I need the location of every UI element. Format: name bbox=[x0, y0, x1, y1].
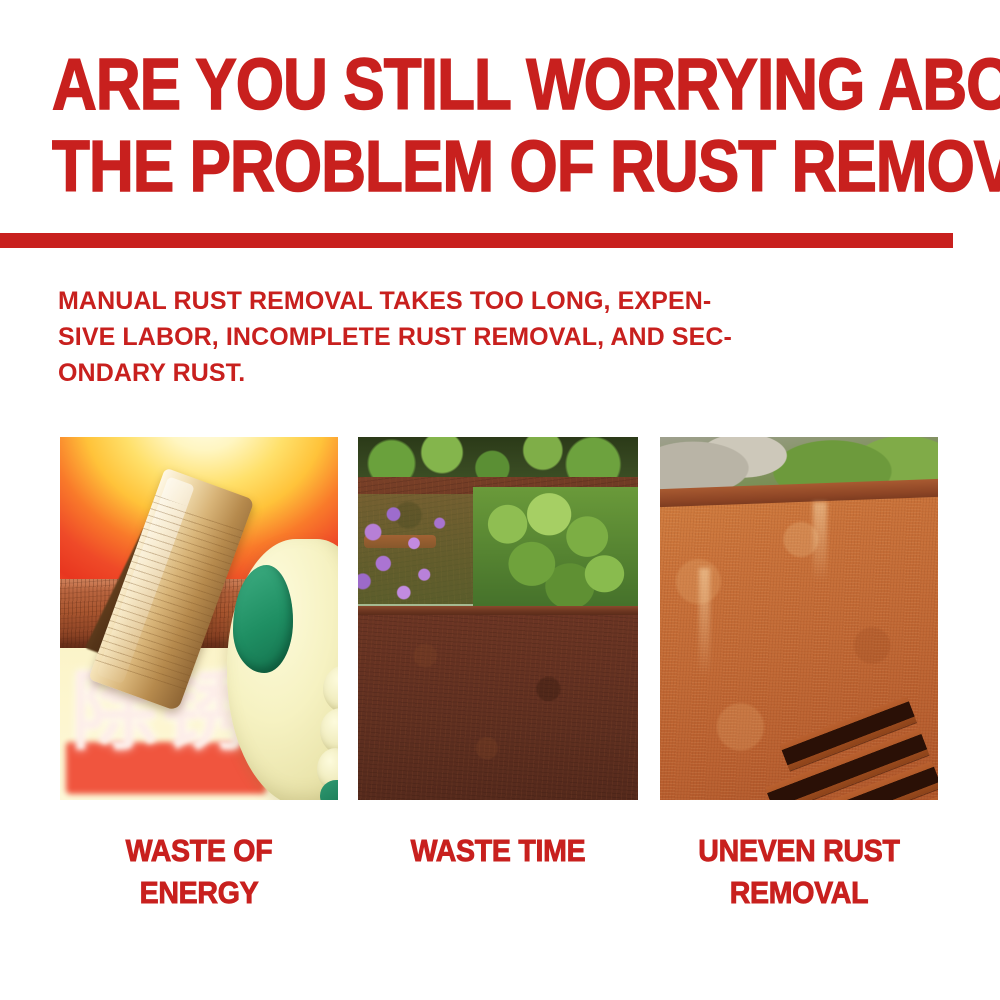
photo-rusted-wall-and-stairs bbox=[660, 437, 938, 800]
planted-flowers bbox=[358, 484, 638, 611]
caption-uneven-rust-removal: UNEVEN RUST REMOVAL bbox=[660, 830, 938, 914]
headline: ARE YOU STILL WORRYING ABOUT THE PROBLEM… bbox=[52, 48, 833, 204]
photo-panel-waste-time bbox=[358, 437, 638, 800]
body-line-2: SIVE LABOR, INCOMPLETE RUST REMOVAL, AND… bbox=[58, 319, 888, 355]
planter-top-rim bbox=[358, 606, 638, 615]
photo-panel-uneven-rust-removal bbox=[660, 437, 938, 800]
purple-flower-cluster bbox=[358, 494, 478, 606]
body-paragraph: MANUAL RUST REMOVAL TAKES TOO LONG, EXPE… bbox=[58, 283, 888, 391]
rust-streak bbox=[813, 502, 827, 582]
glove-knuckle bbox=[320, 708, 338, 754]
background-foliage bbox=[358, 437, 638, 481]
caption-1-line-1: WASTE OF ENERGY bbox=[71, 830, 327, 914]
caption-3-line-1: UNEVEN RUST bbox=[671, 830, 927, 872]
green-leaf-cluster bbox=[473, 487, 638, 612]
headline-line-2: THE PROBLEM OF RUST REMOVAL? bbox=[52, 130, 833, 204]
photo-brush-scrubbing-pipe: 除锈 bbox=[60, 437, 338, 800]
glove-knuckle bbox=[323, 665, 338, 713]
headline-line-1: ARE YOU STILL WORRYING ABOUT bbox=[52, 48, 833, 122]
photo-rusted-planter-box bbox=[358, 437, 638, 800]
body-line-1: MANUAL RUST REMOVAL TAKES TOO LONG, EXPE… bbox=[58, 283, 888, 319]
caption-3-line-2: REMOVAL bbox=[671, 872, 927, 914]
caption-waste-of-energy: WASTE OF ENERGY bbox=[60, 830, 338, 914]
photo-panel-row: 除锈 bbox=[0, 437, 1000, 800]
caption-2-line-1: WASTE TIME bbox=[369, 830, 627, 872]
body-line-3: ONDARY RUST. bbox=[58, 355, 888, 391]
caption-row: WASTE OF ENERGY WASTE TIME UNEVEN RUST R… bbox=[0, 830, 1000, 950]
rust-streak bbox=[699, 568, 710, 677]
rusted-planter-front bbox=[358, 615, 638, 800]
poster-canvas: ARE YOU STILL WORRYING ABOUT THE PROBLEM… bbox=[0, 0, 1000, 1000]
caption-waste-time: WASTE TIME bbox=[358, 830, 638, 872]
red-divider-bar bbox=[0, 233, 953, 248]
photo-panel-waste-of-energy: 除锈 bbox=[60, 437, 338, 800]
